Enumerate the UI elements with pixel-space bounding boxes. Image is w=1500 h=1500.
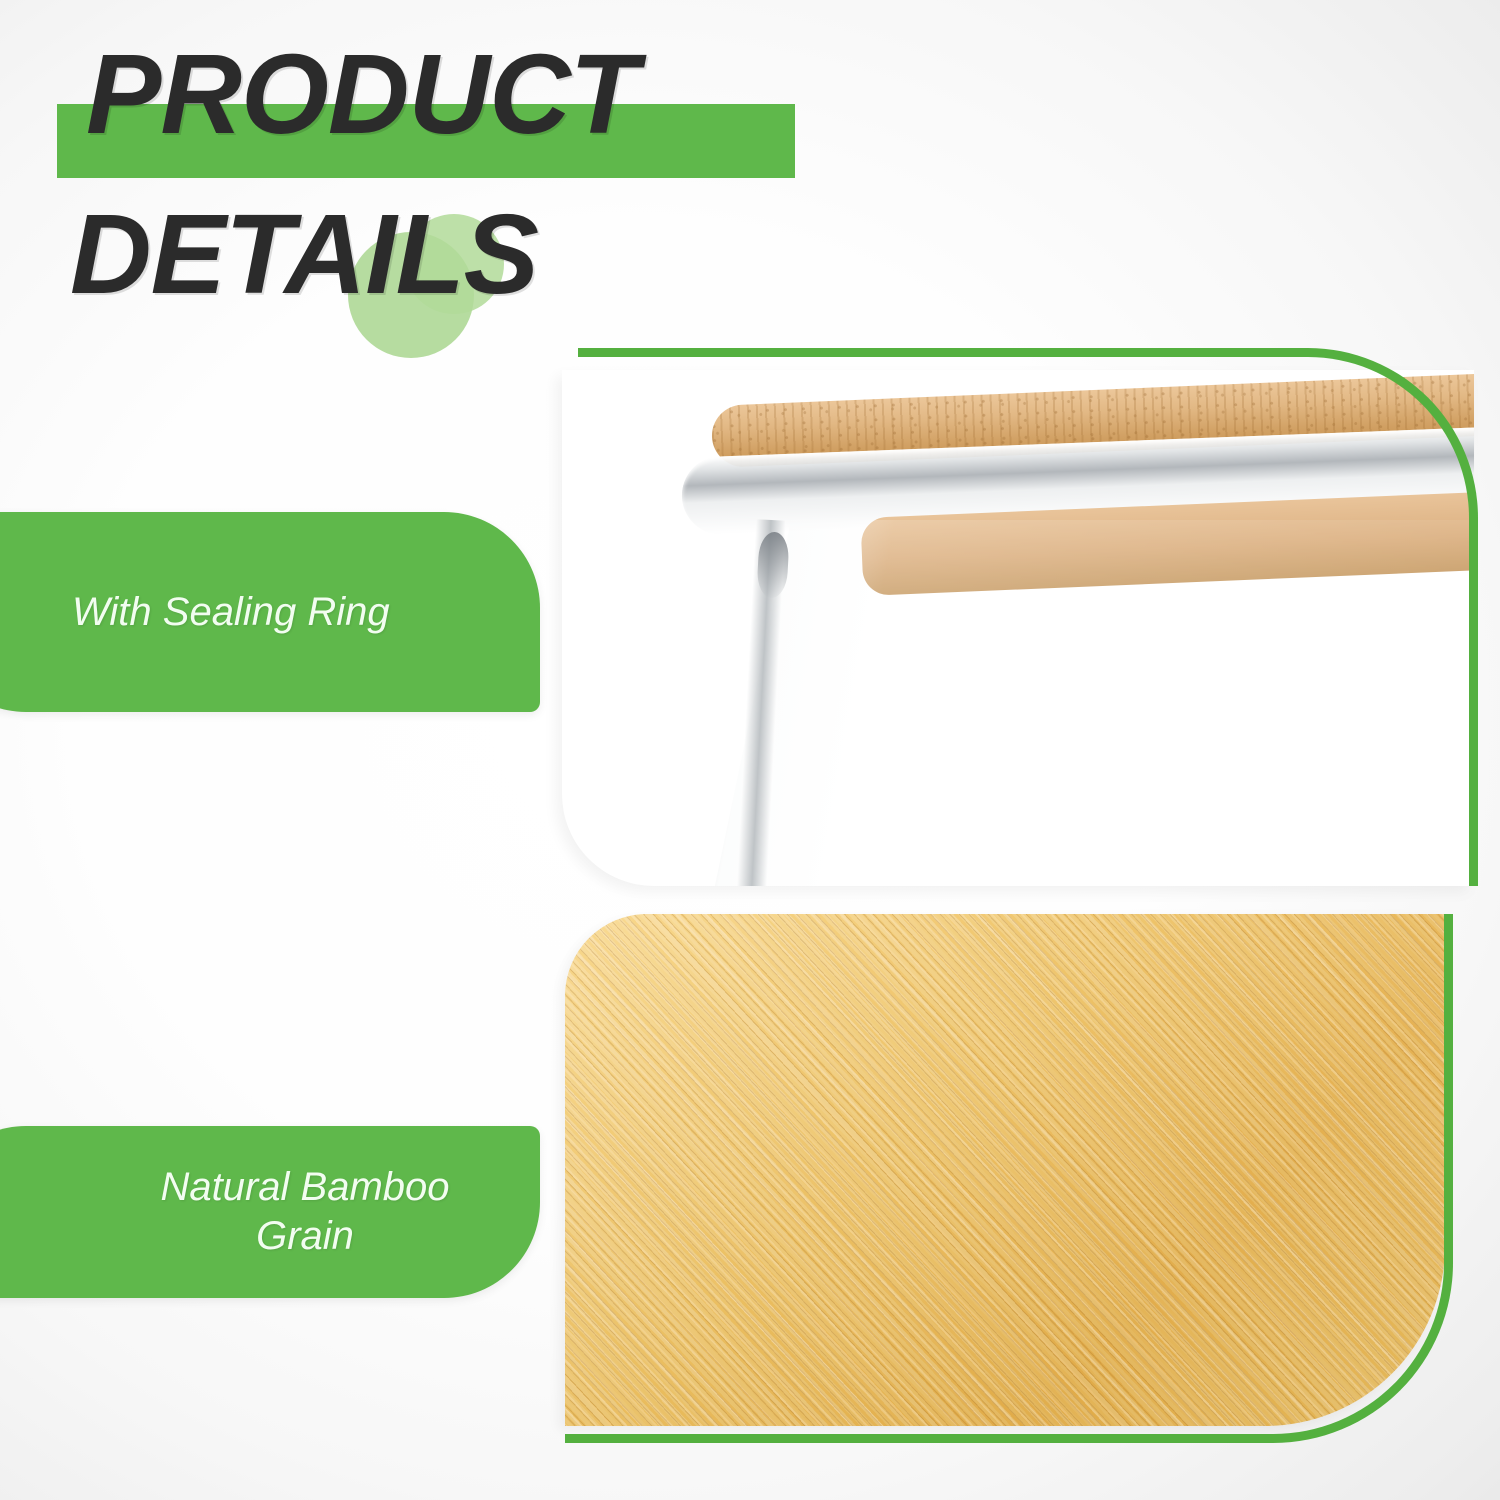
media-card-bamboo-grain <box>565 914 1445 1426</box>
feature-badge-sealing-ring-label: With Sealing Ring <box>72 588 506 637</box>
feature-badge-bamboo-grain: Natural BambooGrain <box>0 1126 540 1298</box>
page-title-line-1: PRODUCT <box>86 38 638 151</box>
page-heading: PRODUCT DETAILS <box>0 0 900 360</box>
jar-illustration <box>562 370 1474 886</box>
feature-badge-bamboo-grain-label: Natural BambooGrain <box>100 1163 510 1261</box>
media-card-jar-closeup <box>562 370 1474 886</box>
feature-badge-sealing-ring: With Sealing Ring <box>0 512 540 712</box>
glass-jar-body <box>712 520 1474 886</box>
product-details-infographic: PRODUCT DETAILS With Sealing Ring Natura… <box>0 0 1500 1500</box>
page-title-line-2: DETAILS <box>70 198 538 311</box>
